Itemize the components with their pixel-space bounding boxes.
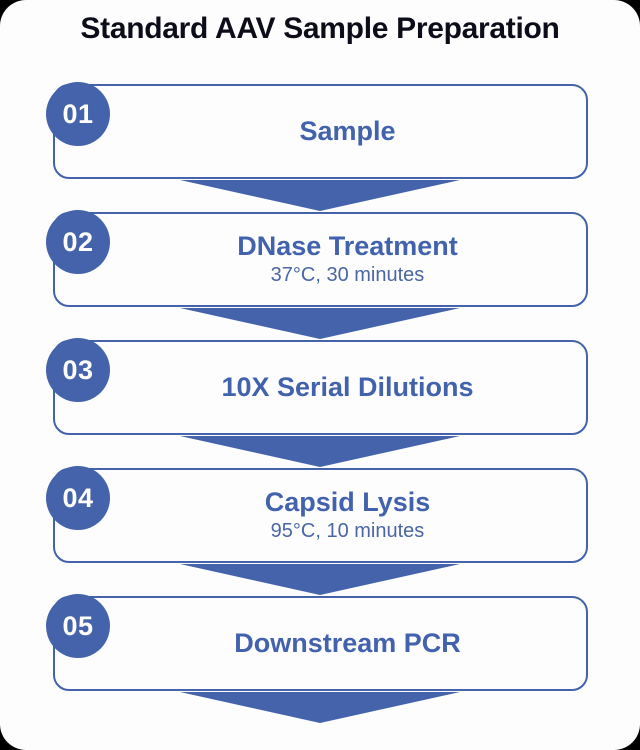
step-subtitle: 95°C, 10 minutes	[271, 519, 425, 544]
down-arrow-icon	[180, 563, 460, 596]
flow-step-5: 05 Downstream PCR	[0, 596, 640, 691]
step-title: Capsid Lysis	[265, 487, 431, 519]
step-text-group: Downstream PCR	[120, 596, 575, 691]
flow-step-4: 04 Capsid Lysis 95°C, 10 minutes	[0, 468, 640, 563]
flow-step-3: 03 10X Serial Dilutions	[0, 340, 640, 435]
step-title: Sample	[299, 116, 395, 148]
flowchart-canvas: Standard AAV Sample Preparation 01 Sampl…	[0, 0, 640, 750]
page-title: Standard AAV Sample Preparation	[0, 12, 640, 46]
down-arrow-icon	[180, 307, 460, 340]
step-subtitle: 37°C, 30 minutes	[271, 263, 425, 288]
step-text-group: Sample	[120, 84, 575, 179]
step-text-group: DNase Treatment 37°C, 30 minutes	[120, 212, 575, 307]
step-number-badge: 04	[46, 466, 110, 530]
step-number-badge: 05	[46, 594, 110, 658]
step-title: 10X Serial Dilutions	[221, 372, 473, 404]
flow-step-1: 01 Sample	[0, 84, 640, 179]
step-number-badge: 03	[46, 338, 110, 402]
step-number-badge: 01	[46, 82, 110, 146]
step-number-badge: 02	[46, 210, 110, 274]
step-text-group: 10X Serial Dilutions	[120, 340, 575, 435]
flow-step-2: 02 DNase Treatment 37°C, 30 minutes	[0, 212, 640, 307]
down-arrow-icon	[180, 691, 460, 724]
step-text-group: Capsid Lysis 95°C, 10 minutes	[120, 468, 575, 563]
down-arrow-icon	[180, 179, 460, 212]
step-title: DNase Treatment	[237, 231, 458, 263]
down-arrow-icon	[180, 435, 460, 468]
process-flow-list: 01 Sample 02 DNase Treatment 37°C, 30 mi…	[0, 84, 640, 724]
step-title: Downstream PCR	[234, 628, 461, 660]
